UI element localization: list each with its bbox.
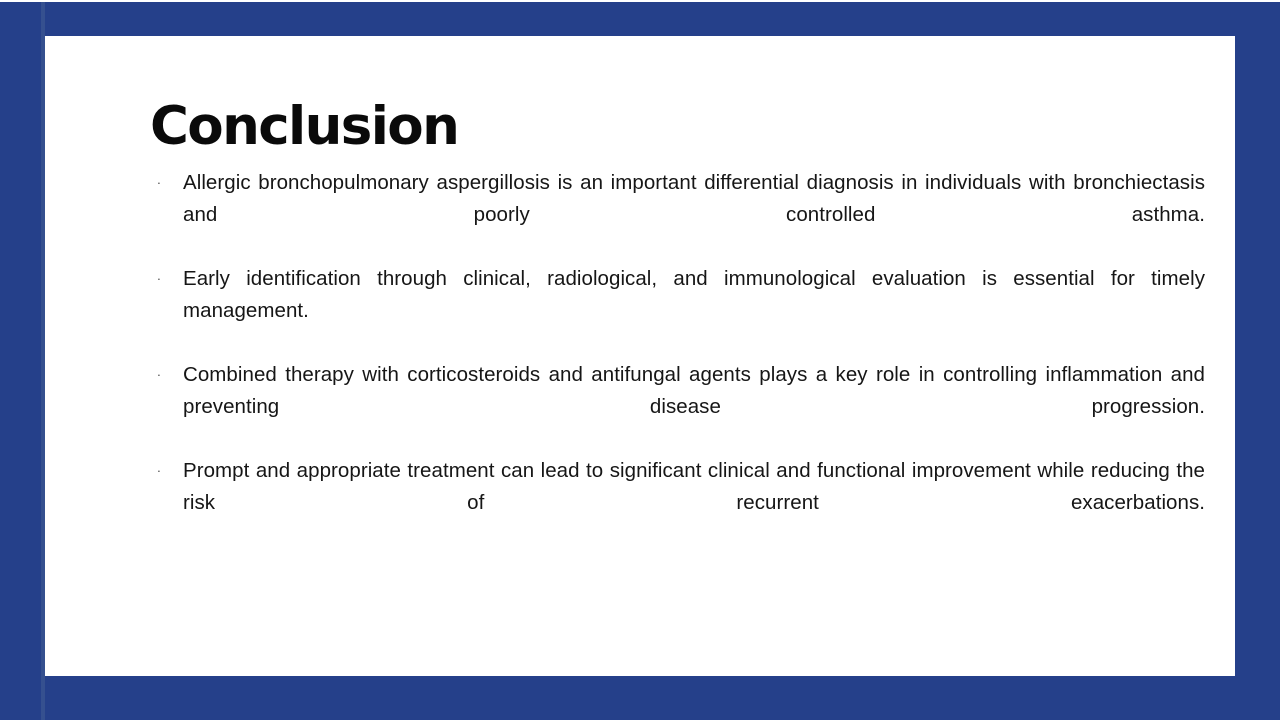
bullet-dot-icon: · bbox=[153, 167, 165, 199]
list-item-text: Prompt and appropriate treatment can lea… bbox=[183, 455, 1205, 551]
list-item-text: Allergic bronchopulmonary aspergillosis … bbox=[183, 167, 1205, 263]
bullet-dot-icon: · bbox=[153, 359, 165, 391]
list-item: · Prompt and appropriate treatment can l… bbox=[150, 455, 1205, 551]
list-item: · Allergic bronchopulmonary aspergillosi… bbox=[150, 167, 1205, 263]
list-item: · Combined therapy with corticosteroids … bbox=[150, 359, 1205, 455]
conclusion-bullet-list: · Allergic bronchopulmonary aspergillosi… bbox=[150, 167, 1205, 551]
list-item-text: Early identification through clinical, r… bbox=[183, 263, 1205, 359]
bullet-dot-icon: · bbox=[153, 263, 165, 295]
presentation-slide: Conclusion · Allergic bronchopulmonary a… bbox=[0, 0, 1280, 720]
list-item-text: Combined therapy with corticosteroids an… bbox=[183, 359, 1205, 455]
bullet-dot-icon: · bbox=[153, 455, 165, 487]
page-title: Conclusion bbox=[150, 100, 1205, 153]
slide-content-area: Conclusion · Allergic bronchopulmonary a… bbox=[150, 100, 1205, 551]
slide-content-panel: Conclusion · Allergic bronchopulmonary a… bbox=[45, 36, 1235, 676]
list-item: · Early identification through clinical,… bbox=[150, 263, 1205, 359]
